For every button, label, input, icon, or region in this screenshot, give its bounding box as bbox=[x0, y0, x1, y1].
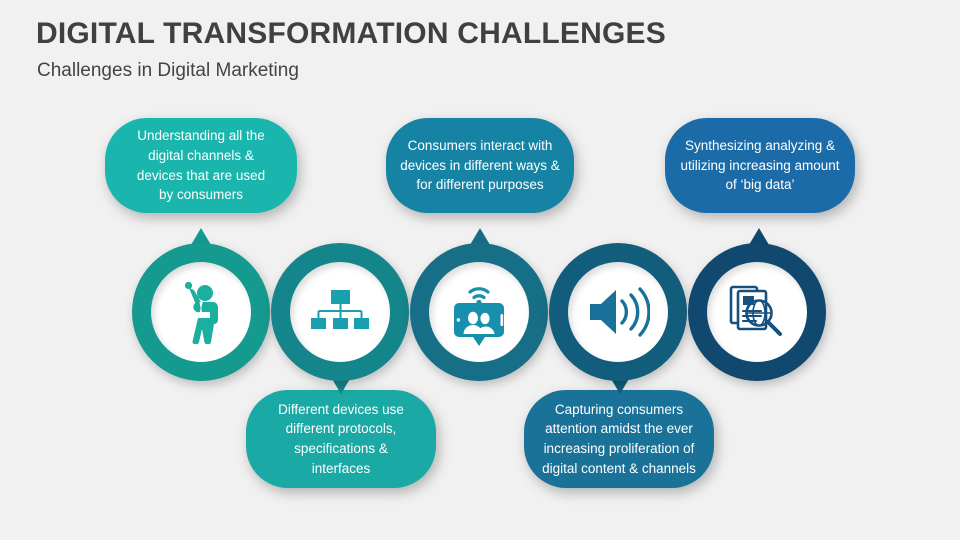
callout-line: digital content & channels bbox=[542, 459, 696, 479]
callout-line: specifications & bbox=[278, 439, 404, 459]
callout-line: by consumers bbox=[137, 185, 265, 205]
callout-line: Different devices use bbox=[278, 400, 404, 420]
icon-ring-4[interactable] bbox=[549, 243, 687, 381]
callout-line: Consumers interact with bbox=[400, 136, 560, 156]
callout-line: Capturing consumers bbox=[542, 400, 696, 420]
icon-ring-inner bbox=[568, 262, 668, 362]
icon-ring-inner bbox=[707, 262, 807, 362]
callout-line: for different purposes bbox=[400, 175, 560, 195]
callout-line: interfaces bbox=[278, 459, 404, 479]
icon-ring-3[interactable] bbox=[410, 243, 548, 381]
callout-line: devices in different ways & bbox=[400, 156, 560, 176]
tablet-people-wifi-icon bbox=[446, 278, 512, 346]
callout-bubble-2[interactable]: Different devices use different protocol… bbox=[246, 390, 436, 488]
org-chart-icon bbox=[309, 288, 371, 336]
callout-line: Understanding all the bbox=[137, 126, 265, 146]
icon-ring-inner bbox=[151, 262, 251, 362]
callout-bubble-1[interactable]: Understanding all the digital channels &… bbox=[105, 118, 297, 213]
callout-line: utilizing increasing amount bbox=[680, 156, 839, 176]
page-title: DIGITAL TRANSFORMATION CHALLENGES bbox=[36, 17, 666, 51]
callout-line: digital channels & bbox=[137, 146, 265, 166]
callout-line: devices that are used bbox=[137, 166, 265, 186]
callout-line: of ‘big data’ bbox=[680, 175, 839, 195]
icon-ring-inner bbox=[290, 262, 390, 362]
callout-line: different protocols, bbox=[278, 419, 404, 439]
icon-ring-1[interactable] bbox=[132, 243, 270, 381]
icon-ring-2[interactable] bbox=[271, 243, 409, 381]
icon-ring-inner bbox=[429, 262, 529, 362]
icon-ring-5[interactable] bbox=[688, 243, 826, 381]
slide-canvas: DIGITAL TRANSFORMATION CHALLENGES Challe… bbox=[0, 0, 960, 540]
speaker-sound-icon bbox=[586, 284, 650, 340]
callout-bubble-3[interactable]: Consumers interact with devices in diffe… bbox=[386, 118, 574, 213]
callout-bubble-5[interactable]: Synthesizing analyzing & utilizing incre… bbox=[665, 118, 855, 213]
callout-line: attention amidst the ever bbox=[542, 419, 696, 439]
page-subtitle: Challenges in Digital Marketing bbox=[37, 60, 299, 82]
document-magnifier-icon bbox=[728, 283, 786, 341]
person-raised-arm-icon bbox=[173, 280, 229, 344]
callout-line: increasing proliferation of bbox=[542, 439, 696, 459]
callout-line: Synthesizing analyzing & bbox=[680, 136, 839, 156]
callout-bubble-4[interactable]: Capturing consumers attention amidst the… bbox=[524, 390, 714, 488]
